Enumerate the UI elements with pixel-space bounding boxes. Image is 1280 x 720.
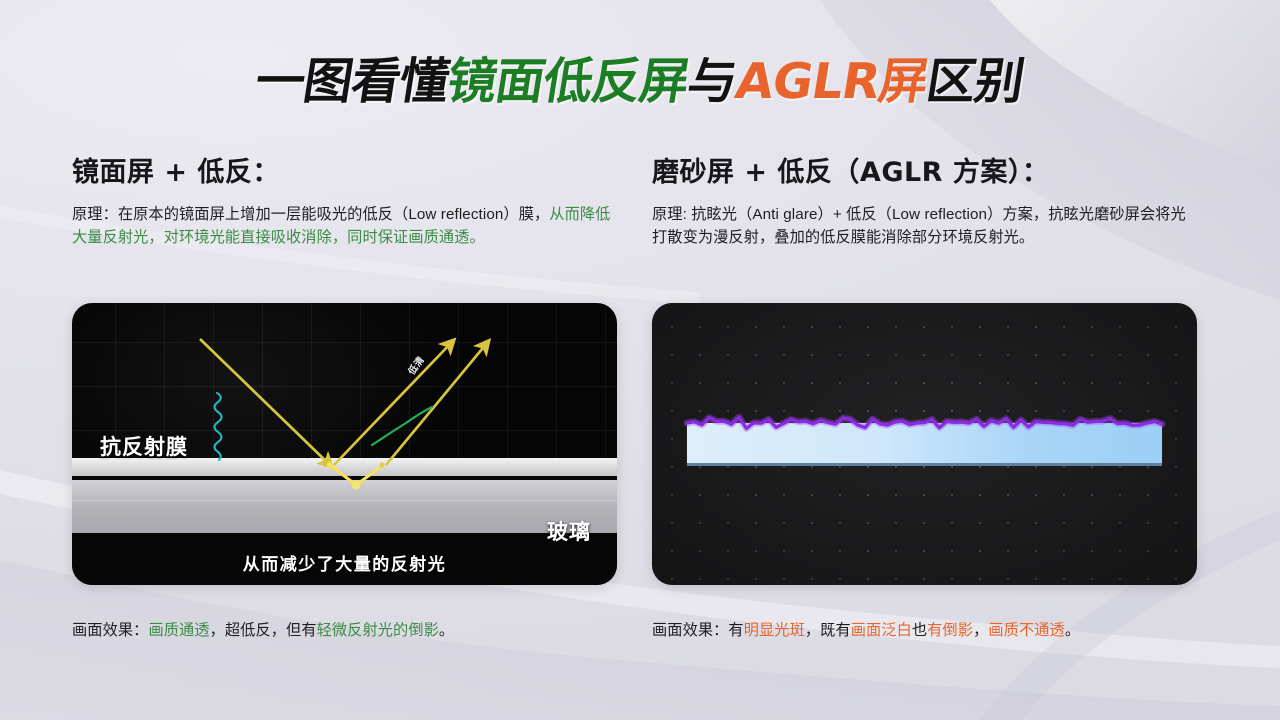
absorption-glow-dot bbox=[351, 480, 360, 489]
glass-label: 玻璃 bbox=[547, 516, 591, 546]
left-caption-seg-3: 轻微反射光的倒影 bbox=[317, 622, 439, 639]
right-caption-seg-3: 画面泛白 bbox=[851, 622, 912, 639]
page-title-container: 一图看懂镜面低反屏与AGLR屏区别 bbox=[0, 50, 1280, 112]
right-caption-seg-5: 有倒影 bbox=[927, 622, 973, 639]
reflected-ray-arrow-2 bbox=[386, 343, 487, 465]
left-description-plain: 原理：在原本的镜面屏上增加一层能吸光的低反（Low reflection）膜， bbox=[72, 206, 549, 223]
rough-surface-glow bbox=[687, 417, 1162, 428]
right-caption-seg-8: 。 bbox=[1065, 622, 1080, 639]
right-caption-seg-2: ，既有 bbox=[805, 622, 851, 639]
left-column-text: 镜面屏 + 低反： 原理：在原本的镜面屏上增加一层能吸光的低反（Low refl… bbox=[72, 150, 617, 249]
title-part-4: AGLR屏 bbox=[733, 57, 932, 106]
exit-point-dot bbox=[379, 462, 384, 467]
anti-reflection-film-label: 抗反射膜 bbox=[100, 431, 188, 461]
right-caption-seg-4: 也 bbox=[912, 622, 927, 639]
incidence-point-dot bbox=[327, 462, 333, 468]
page-title: 一图看懂镜面低反屏与AGLR屏区别 bbox=[253, 57, 1028, 106]
reflected-ray-arrow-1 bbox=[334, 342, 452, 465]
right-caption-seg-0: 画面效果：有 bbox=[652, 622, 744, 639]
right-caption-seg-6: ， bbox=[973, 622, 988, 639]
left-caption-seg-4: 。 bbox=[439, 622, 454, 639]
left-panel-caption: 从而减少了大量的反射光 bbox=[72, 550, 617, 575]
title-part-2: 镜面低反屏 bbox=[445, 57, 693, 106]
right-effect-caption: 画面效果：有明显光斑，既有画面泛白也有倒影，画质不通透。 bbox=[652, 618, 1212, 640]
right-column-text: 磨砂屏 + 低反（AGLR 方案）： 原理: 抗眩光（Anti glare）+ … bbox=[652, 150, 1197, 249]
left-description: 原理：在原本的镜面屏上增加一层能吸光的低反（Low reflection）膜，从… bbox=[72, 203, 617, 249]
left-heading: 镜面屏 + 低反： bbox=[72, 150, 617, 189]
right-caption-seg-7: 画质不通透 bbox=[988, 622, 1064, 639]
aglr-rough-surface bbox=[652, 303, 1197, 585]
absorbed-light-wave bbox=[215, 393, 222, 460]
title-part-5: 区别 bbox=[924, 57, 1028, 106]
transmitted-quality-line bbox=[372, 407, 432, 445]
right-heading: 磨砂屏 + 低反（AGLR 方案）： bbox=[652, 150, 1197, 189]
left-effect-caption: 画面效果：画质通透，超低反，但有轻微反射光的倒影。 bbox=[72, 618, 632, 640]
right-description: 原理: 抗眩光（Anti glare）+ 低反（Low reflection）方… bbox=[652, 203, 1197, 249]
title-part-1: 一图看懂 bbox=[253, 57, 453, 106]
left-caption-seg-0: 画面效果： bbox=[72, 622, 148, 639]
title-part-3: 与 bbox=[685, 57, 741, 106]
left-diagram-panel: 抗反射膜 玻璃 从而减少了大量的反射光 低清 bbox=[72, 303, 617, 585]
left-caption-seg-2: ，超低反，但有 bbox=[210, 622, 317, 639]
left-caption-seg-1: 画质通透 bbox=[148, 622, 209, 639]
right-caption-seg-1: 明显光斑 bbox=[744, 622, 805, 639]
right-diagram-panel bbox=[652, 303, 1197, 585]
